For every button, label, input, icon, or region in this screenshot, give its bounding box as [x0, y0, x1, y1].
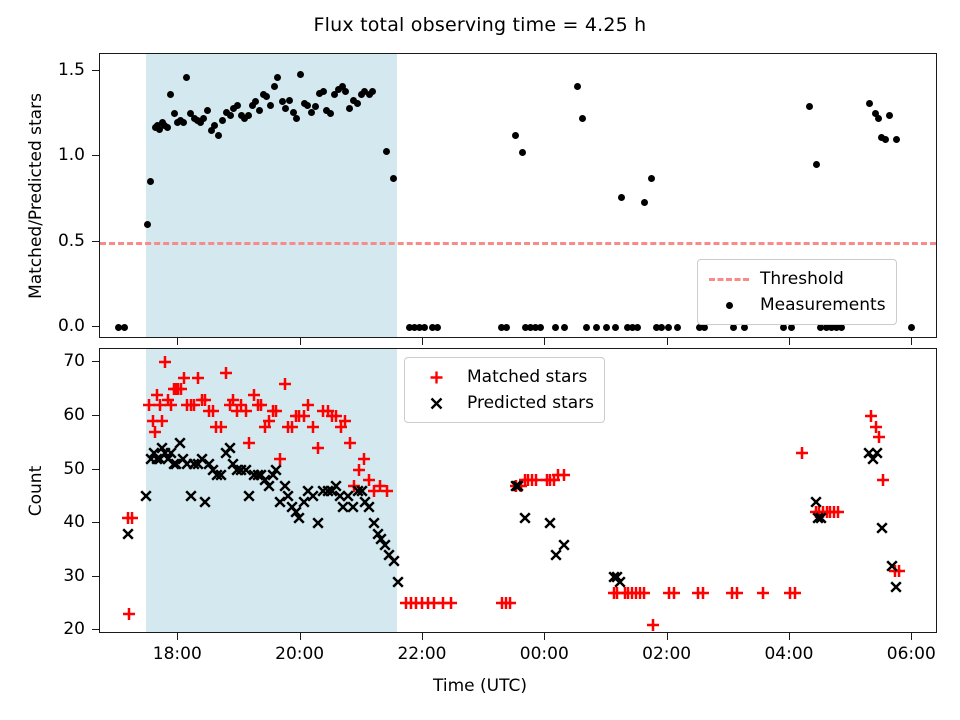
data-point-circle	[537, 324, 544, 331]
data-point-circle	[256, 107, 263, 114]
data-point-x	[875, 521, 889, 535]
data-point-plus	[869, 420, 883, 434]
data-point-circle	[583, 324, 590, 331]
data-point-x	[557, 538, 571, 552]
data-point-plus	[551, 468, 565, 482]
data-point-plus	[892, 564, 906, 578]
data-point-plus	[646, 618, 660, 632]
data-point-circle	[234, 102, 241, 109]
data-point-plus	[618, 586, 632, 600]
data-point-circle	[354, 100, 361, 107]
x-tick-label: 18:00	[153, 644, 202, 664]
legend-label-threshold: Threshold	[752, 269, 844, 289]
data-point-x	[543, 516, 557, 530]
data-point-plus	[540, 473, 554, 487]
data-point-plus	[625, 586, 639, 600]
y-tick-label: 1.5	[0, 60, 85, 80]
data-point-plus	[809, 505, 823, 519]
x-tick-mark	[177, 633, 178, 640]
dashed-line-icon	[706, 278, 752, 281]
data-point-plus	[509, 479, 523, 493]
data-point-plus	[725, 586, 739, 600]
data-point-circle	[421, 324, 428, 331]
data-point-circle	[806, 103, 813, 110]
data-point-circle	[593, 324, 600, 331]
data-point-x	[889, 580, 903, 594]
legend-item-predicted-stars: Predicted stars	[413, 390, 594, 416]
x-tick-mark	[544, 338, 545, 345]
data-point-plus	[399, 596, 413, 610]
data-point-plus	[122, 607, 136, 621]
data-point-x	[121, 527, 135, 541]
data-point-plus	[607, 586, 621, 600]
data-point-circle	[893, 136, 900, 143]
data-point-circle	[271, 83, 278, 90]
data-point-circle	[618, 194, 625, 201]
data-point-plus	[525, 473, 539, 487]
y-tick-label: 0.5	[0, 231, 85, 251]
data-point-x	[518, 511, 532, 525]
data-point-circle	[665, 324, 672, 331]
figure-canvas: Flux total observing time = 4.25 h Match…	[0, 0, 960, 720]
y-tick-mark	[92, 70, 99, 71]
data-point-circle	[219, 117, 226, 124]
data-point-circle	[164, 124, 171, 131]
data-point-plus	[691, 586, 705, 600]
data-point-circle	[813, 161, 820, 168]
data-point-plus	[409, 596, 423, 610]
data-point-plus	[633, 586, 647, 600]
x-tick-label: 02:00	[642, 644, 691, 664]
y-tick-label: 20	[0, 619, 85, 639]
x-tick-mark	[667, 338, 668, 345]
data-point-plus	[547, 473, 561, 487]
x-tick-mark	[422, 633, 423, 640]
data-point-plus	[756, 586, 770, 600]
data-point-circle	[603, 324, 610, 331]
data-point-circle	[574, 83, 581, 90]
y-tick-mark	[92, 522, 99, 523]
data-point-plus	[495, 596, 509, 610]
data-point-circle	[648, 175, 655, 182]
data-point-plus	[421, 596, 435, 610]
data-point-plus	[121, 511, 135, 525]
data-point-plus	[436, 596, 450, 610]
threshold-line	[100, 242, 936, 245]
legend-label-measurements: Measurements	[752, 295, 886, 315]
data-point-plus	[783, 586, 797, 600]
data-point-x	[549, 548, 563, 562]
data-point-circle	[227, 112, 234, 119]
data-point-circle	[866, 100, 873, 107]
legend-item-measurements: Measurements	[706, 292, 886, 318]
data-point-circle	[658, 324, 665, 331]
data-point-circle	[579, 115, 586, 122]
data-point-circle	[171, 110, 178, 117]
ratio-panel-legend: Threshold Measurements	[697, 259, 897, 325]
data-point-circle	[245, 112, 252, 119]
x-tick-label: 00:00	[520, 644, 569, 664]
data-point-plus	[872, 430, 886, 444]
data-point-x	[814, 511, 828, 525]
x-tick-mark	[789, 338, 790, 345]
y-tick-mark	[92, 415, 99, 416]
y-tick-label: 70	[0, 351, 85, 371]
y-tick-label: 30	[0, 566, 85, 586]
data-point-x	[809, 495, 823, 509]
data-point-plus	[667, 586, 681, 600]
data-point-x	[607, 570, 621, 584]
x-tick-mark	[911, 338, 912, 345]
x-tick-label: 06:00	[887, 644, 936, 664]
legend-label-predicted-stars: Predicted stars	[459, 393, 594, 413]
x-tick-mark	[667, 633, 668, 640]
x-axis-label: Time (UTC)	[0, 676, 960, 696]
data-point-plus	[529, 473, 543, 487]
data-point-circle	[908, 324, 915, 331]
data-point-circle	[503, 324, 510, 331]
data-point-plus	[427, 596, 441, 610]
data-point-x	[811, 511, 825, 525]
data-point-circle	[875, 115, 882, 122]
x-marker-icon	[413, 396, 459, 411]
data-point-circle	[204, 107, 211, 114]
data-point-x	[885, 559, 899, 573]
y-tick-mark	[92, 326, 99, 327]
data-point-plus	[730, 586, 744, 600]
data-point-circle	[882, 136, 889, 143]
data-point-plus	[788, 586, 802, 600]
x-tick-mark	[300, 338, 301, 345]
x-tick-mark	[422, 338, 423, 345]
data-point-x	[866, 452, 880, 466]
data-point-plus	[831, 505, 845, 519]
data-point-circle	[267, 102, 274, 109]
y-tick-label: 40	[0, 512, 85, 532]
data-point-x	[610, 570, 624, 584]
x-tick-label: 22:00	[397, 644, 446, 664]
data-point-circle	[612, 324, 619, 331]
y-tick-mark	[92, 576, 99, 577]
data-point-circle	[512, 132, 519, 139]
data-point-circle	[674, 324, 681, 331]
data-point-plus	[816, 505, 830, 519]
data-point-x	[509, 479, 523, 493]
legend-label-matched-stars: Matched stars	[459, 367, 587, 387]
x-tick-mark	[544, 633, 545, 640]
data-point-plus	[621, 586, 635, 600]
data-point-circle	[121, 324, 128, 331]
legend-item-threshold: Threshold	[706, 266, 886, 292]
x-tick-mark	[911, 633, 912, 640]
data-point-plus	[820, 505, 834, 519]
data-point-plus	[404, 596, 418, 610]
data-point-plus	[864, 409, 878, 423]
data-point-circle	[634, 324, 641, 331]
x-tick-mark	[789, 633, 790, 640]
page-title: Flux total observing time = 4.25 h	[0, 14, 960, 36]
y-tick-mark	[92, 155, 99, 156]
x-tick-label: 20:00	[275, 644, 324, 664]
data-point-plus	[637, 586, 651, 600]
y-tick-mark	[92, 361, 99, 362]
data-point-plus	[610, 586, 624, 600]
data-point-x	[511, 479, 525, 493]
data-point-plus	[827, 505, 841, 519]
data-point-circle	[886, 112, 893, 119]
data-point-x	[613, 575, 627, 589]
y-tick-mark	[92, 629, 99, 630]
x-tick-mark	[177, 338, 178, 345]
data-point-plus	[795, 446, 809, 460]
y-tick-mark	[92, 469, 99, 470]
data-point-circle	[552, 324, 559, 331]
data-point-plus	[876, 473, 890, 487]
data-point-x	[862, 446, 876, 460]
ratio-panel-ylabel: Matched/Predicted stars	[26, 93, 46, 299]
data-point-plus	[557, 468, 571, 482]
data-point-plus	[543, 473, 557, 487]
x-tick-mark	[300, 633, 301, 640]
data-point-circle	[641, 199, 648, 206]
data-point-circle	[286, 97, 293, 104]
data-point-circle	[519, 149, 526, 156]
y-tick-label: 50	[0, 459, 85, 479]
data-point-circle	[383, 148, 390, 155]
data-point-plus	[662, 586, 676, 600]
y-tick-label: 60	[0, 405, 85, 425]
plus-marker-icon	[413, 370, 459, 385]
data-point-x	[870, 446, 884, 460]
data-point-plus	[415, 596, 429, 610]
data-point-plus	[812, 505, 826, 519]
data-point-plus	[629, 586, 643, 600]
y-tick-label: 0.0	[0, 316, 85, 336]
data-point-plus	[444, 596, 458, 610]
data-point-circle	[561, 324, 568, 331]
count-panel-legend: Matched stars Predicted stars	[404, 357, 605, 423]
data-point-plus	[518, 473, 532, 487]
data-point-circle	[434, 324, 441, 331]
data-point-plus	[503, 596, 517, 610]
data-point-plus	[888, 564, 902, 578]
legend-item-matched-stars: Matched stars	[413, 364, 594, 390]
data-point-plus	[499, 596, 513, 610]
circle-marker-icon	[706, 302, 752, 309]
y-tick-label: 1.0	[0, 145, 85, 165]
data-point-circle	[320, 88, 327, 95]
data-point-plus	[521, 473, 535, 487]
data-point-plus	[125, 511, 139, 525]
data-point-plus	[823, 505, 837, 519]
y-tick-mark	[92, 241, 99, 242]
observing-window-shading	[146, 349, 397, 632]
x-tick-label: 04:00	[764, 644, 813, 664]
data-point-plus	[514, 479, 528, 493]
data-point-plus	[696, 586, 710, 600]
